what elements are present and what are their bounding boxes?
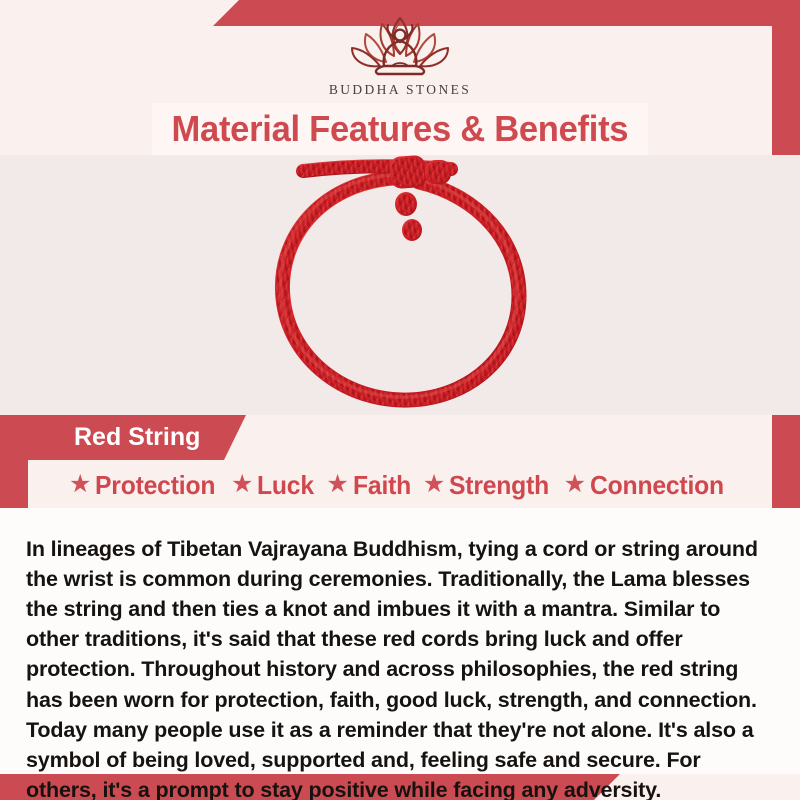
red-string-bracelet-image [243,155,563,415]
star-icon: ★ [326,472,348,497]
star-icon: ★ [231,472,253,497]
benefit-label: Protection [95,470,215,501]
brand-logo: BUDDHA STONES [0,8,800,98]
bracelet-knot [389,155,451,241]
star-icon: ★ [69,472,91,497]
product-image-region [0,155,800,415]
poster-root: BUDDHA STONES Material Features & Benefi… [0,0,800,800]
benefit-label: Strength [449,470,549,501]
benefit-item-luck: ★ Luck [231,470,317,501]
benefit-item-protection: ★ Protection [69,470,222,501]
description-text: In lineages of Tibetan Vajrayana Buddhis… [26,534,774,800]
lotus-meditation-figure-icon [330,8,470,80]
description-panel: In lineages of Tibetan Vajrayana Buddhis… [0,508,800,774]
benefit-label: Luck [257,470,314,501]
benefit-item-faith: ★ Faith [326,470,414,501]
product-image-inner [0,155,800,415]
benefit-item-connection: ★ Connection [564,470,731,501]
page-title: Material Features & Benefits [172,108,629,150]
material-label-text: Red String [74,423,200,452]
benefit-label: Faith [353,470,411,501]
benefit-item-strength: ★ Strength [423,470,555,501]
benefit-list: ★ Protection ★ Luck ★ Faith ★ Strength ★… [0,462,800,508]
benefit-label: Connection [590,470,724,501]
material-label-band: Red String [0,415,800,460]
star-icon: ★ [564,472,586,497]
title-banner: Material Features & Benefits [152,103,648,155]
brand-wordmark: BUDDHA STONES [0,82,800,98]
material-label-tag: Red String [28,415,246,460]
star-icon: ★ [423,472,445,497]
